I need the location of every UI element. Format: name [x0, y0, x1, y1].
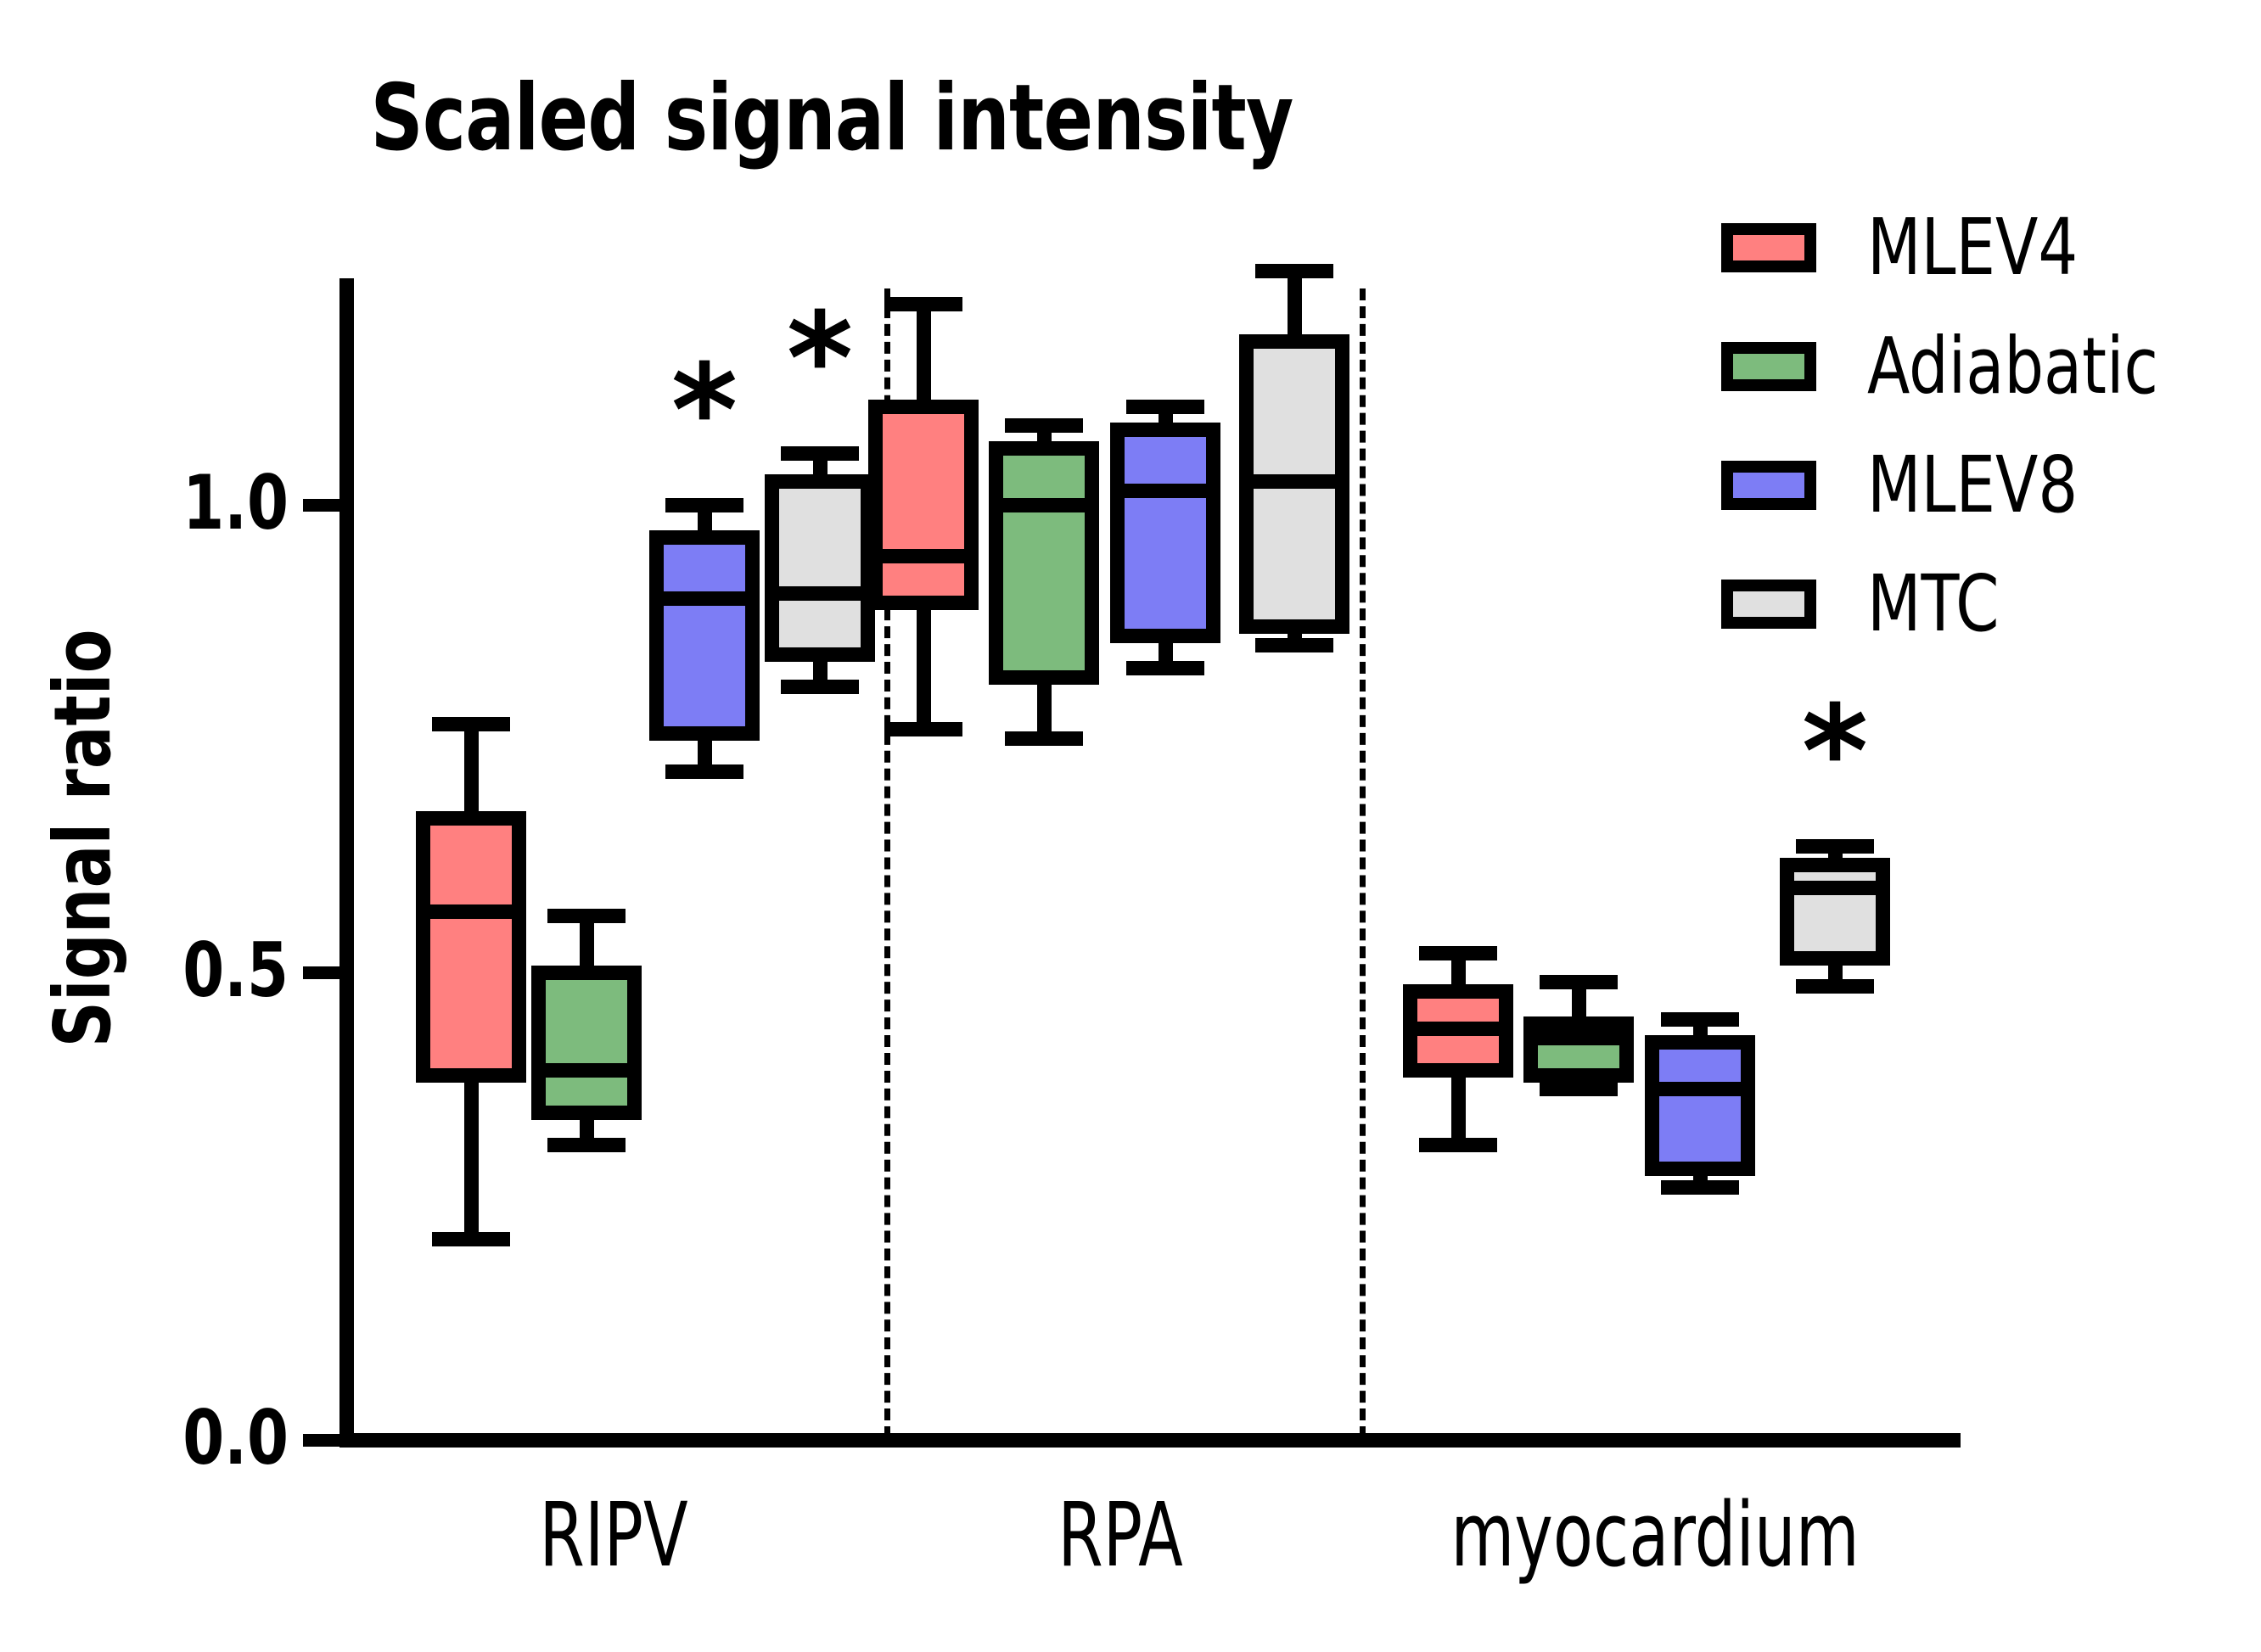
whisker-cap-lower — [1661, 1180, 1739, 1195]
box-median-line — [649, 591, 760, 606]
legend-swatch-mtc — [1721, 580, 1816, 629]
x-axis-label-rpa: RPA — [882, 1489, 1359, 1581]
significance-asterisk: * — [769, 296, 871, 423]
x-axis-line — [339, 1433, 1961, 1448]
y-axis-tick-mark — [303, 499, 342, 512]
y-axis-tick-label: 1.0 — [58, 466, 289, 540]
box-iqr — [1523, 1016, 1634, 1083]
boxplot-figure: Scaled signal intensity Signal ratio 0.0… — [0, 0, 2261, 1652]
whisker-lower — [1451, 1071, 1466, 1145]
legend-swatch-mlev4 — [1721, 223, 1816, 272]
whisker-cap-lower — [432, 1232, 510, 1246]
legend-item-mlev8[interactable]: MLEV8 — [1721, 426, 2247, 545]
whisker-cap-lower — [781, 680, 859, 694]
significance-asterisk: * — [654, 348, 755, 475]
box-median-line — [531, 1063, 642, 1078]
box-median-line — [1110, 484, 1220, 498]
whisker-upper — [580, 916, 594, 972]
box-iqr — [868, 400, 979, 610]
y-axis-tick-label: 0.0 — [58, 1401, 289, 1476]
y-axis-line — [339, 278, 354, 1448]
legend-item-adiabatic[interactable]: Adiabatic — [1721, 307, 2247, 426]
whisker-cap-upper — [1255, 264, 1333, 278]
whisker-cap-upper — [1005, 418, 1083, 433]
whisker-cap-upper — [781, 446, 859, 461]
whisker-lower — [464, 1075, 479, 1239]
box-median-line — [1780, 881, 1890, 895]
legend-item-mtc[interactable]: MTC — [1721, 545, 2247, 664]
x-axis-label-myocardium: myocardium — [1417, 1489, 1894, 1581]
box-iqr — [1780, 858, 1890, 966]
y-axis-tick-mark — [303, 1434, 342, 1447]
whisker-cap-lower — [547, 1138, 626, 1152]
whisker-cap-lower — [1796, 979, 1874, 994]
whisker-cap-upper — [884, 297, 962, 311]
whisker-cap-lower — [884, 722, 962, 736]
box-median-line — [416, 904, 526, 919]
box-iqr — [765, 474, 875, 662]
box-iqr — [649, 530, 760, 741]
legend-label: MLEV8 — [1867, 445, 2078, 526]
whisker-cap-lower — [1255, 638, 1333, 652]
box-iqr — [1645, 1035, 1755, 1176]
whisker-cap-upper — [547, 909, 626, 923]
legend-swatch-adiabatic — [1721, 342, 1816, 391]
whisker-cap-upper — [1419, 946, 1497, 960]
whisker-upper — [917, 304, 931, 406]
legend: MLEV4AdiabaticMLEV8MTC — [1721, 188, 2247, 664]
box-median-line — [1645, 1082, 1755, 1096]
whisker-upper — [1288, 272, 1302, 342]
box-iqr — [1110, 423, 1220, 642]
whisker-upper — [464, 725, 479, 818]
whisker-cap-lower — [665, 764, 743, 779]
legend-label: Adiabatic — [1867, 326, 2158, 407]
whisker-cap-upper — [1126, 400, 1204, 414]
box-iqr — [989, 441, 1099, 685]
whisker-cap-upper — [1661, 1012, 1739, 1027]
whisker-cap-upper — [1796, 839, 1874, 854]
whisker-cap-upper — [665, 498, 743, 512]
legend-label: MLEV4 — [1867, 207, 2078, 288]
box-iqr — [531, 966, 642, 1120]
y-axis-tick-label: 0.5 — [58, 933, 289, 1008]
box-iqr — [416, 811, 526, 1083]
x-axis-label-ripv: RIPV — [375, 1489, 852, 1581]
legend-item-mlev4[interactable]: MLEV4 — [1721, 188, 2247, 307]
whisker-lower — [917, 603, 931, 730]
box-median-line — [765, 586, 875, 601]
box-median-line — [989, 498, 1099, 512]
whisker-cap-lower — [1419, 1138, 1497, 1152]
y-axis-tick-mark — [303, 966, 342, 979]
whisker-lower — [1037, 678, 1052, 739]
whisker-cap-upper — [432, 717, 510, 731]
box-median-line — [1239, 474, 1349, 489]
whisker-cap-lower — [1540, 1082, 1618, 1096]
whisker-cap-lower — [1126, 661, 1204, 675]
legend-label: MTC — [1867, 563, 2000, 645]
page-title: Scaled signal intensity — [166, 71, 1497, 166]
y-axis-title: Signal ratio — [42, 595, 124, 1082]
legend-swatch-mlev8 — [1721, 461, 1816, 510]
whisker-cap-lower — [1005, 731, 1083, 746]
box-median-line — [868, 549, 979, 563]
group-separator-line — [1360, 288, 1366, 1438]
significance-asterisk: * — [1784, 689, 1886, 816]
whisker-cap-upper — [1540, 975, 1618, 989]
box-median-line — [1403, 1022, 1513, 1036]
box-median-line — [1523, 1031, 1634, 1045]
